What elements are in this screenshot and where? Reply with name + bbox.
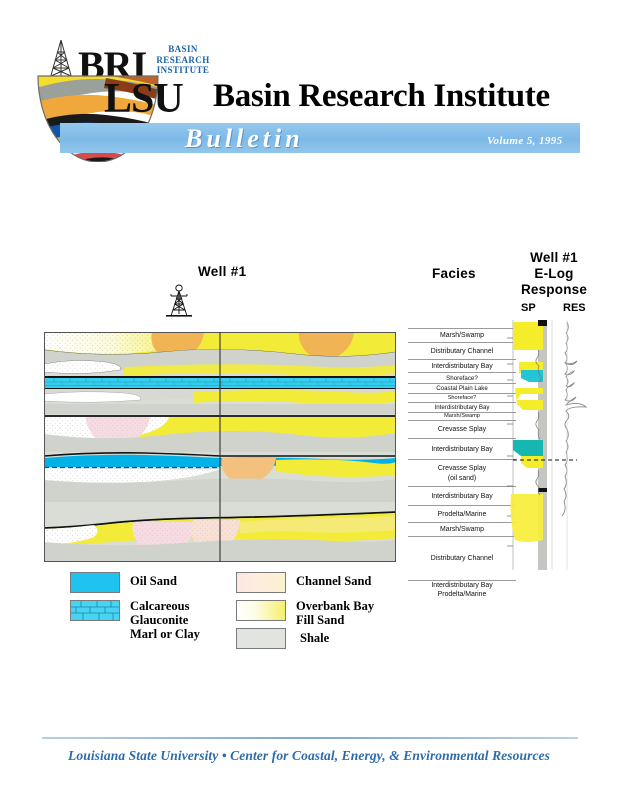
facies-row: Distributary Channel <box>408 342 516 360</box>
elog-response-tracks <box>505 320 605 570</box>
facies-label-line: Interdistributary Bay <box>431 581 492 591</box>
legend-label-shale: Shale <box>300 631 329 645</box>
well-label-crosssection: Well #1 <box>198 264 246 279</box>
res-track-label: RES <box>563 302 586 314</box>
institute-line-2: RESEARCH <box>148 55 218 66</box>
facies-row: Prodelta/Marine <box>408 505 516 523</box>
legend-swatch-oil-sand <box>70 572 120 593</box>
marl-hatch-icon <box>71 601 119 620</box>
legend-label-overbank-l2: Fill Sand <box>296 613 374 627</box>
figure-legend: Oil Sand Calcareous Glauconite Marl or C… <box>70 570 430 660</box>
facies-row: Marsh/Swamp <box>408 522 516 537</box>
facies-row: Interdistributary Bay <box>408 486 516 506</box>
facies-row: Crevasse Splay(oil sand) <box>408 459 516 487</box>
footer-divider <box>42 737 578 739</box>
facies-label-line: Interdistributary Bay <box>431 492 492 502</box>
facies-row-label: Crevasse Splay(oil sand) <box>438 464 486 483</box>
facies-row-label: Distributary Channel <box>431 347 493 357</box>
facies-row: Interdistributary Bay <box>408 438 516 460</box>
publication-title: Basin Research Institute <box>213 78 550 115</box>
facies-row: Crevasse Splay <box>408 420 516 439</box>
stratigraphic-figure: Well #1 Facies Well #1 E-Log Response SP… <box>0 240 618 580</box>
facies-row-label: Shoreface? <box>446 374 478 384</box>
facies-label-line: Distributary Channel <box>431 554 493 564</box>
legend-label-channel-sand: Channel Sand <box>296 574 371 588</box>
institute-line-1: BASIN <box>148 44 218 55</box>
legend-label-marl-l2: Glauconite <box>130 613 200 627</box>
legend-swatch-overbank <box>236 600 286 621</box>
legend-swatch-marl <box>70 600 120 621</box>
facies-label-line: Crevasse Splay <box>438 464 486 474</box>
bulletin-cover-page: BRI BASIN RESEARCH INSTITUTE <box>0 0 618 800</box>
legend-label-marl: Calcareous Glauconite Marl or Clay <box>130 599 200 641</box>
facies-label-line: Interdistributary Bay <box>431 362 492 372</box>
facies-row-label: Marsh/Swamp <box>440 331 484 341</box>
facies-row: Interdistributary Bay <box>408 359 516 373</box>
facies-label-line: Interdistributary Bay <box>431 445 492 455</box>
bulletin-word: Bulletin <box>185 124 304 154</box>
volume-label: Volume 5, 1995 <box>487 135 563 147</box>
facies-row-label: Marsh/Swamp <box>440 525 484 535</box>
facies-label-line: Shoreface? <box>446 374 478 384</box>
legend-label-marl-l3: Marl or Clay <box>130 627 200 641</box>
facies-row-label: Interdistributary BayProdelta/Marine <box>431 581 492 600</box>
elog-header-line-2: E-Log <box>505 266 603 282</box>
facies-row-label: Interdistributary Bay <box>431 492 492 502</box>
facies-label-column: Marsh/SwampDistributary ChannelInterdist… <box>408 240 516 580</box>
facies-row-label: Interdistributary Bay <box>431 362 492 372</box>
oil-derrick-icon <box>165 284 193 326</box>
facies-label-line: Crevasse Splay <box>438 425 486 435</box>
facies-label-line: Distributary Channel <box>431 347 493 357</box>
facies-label-line: Prodelta/Marine <box>431 590 492 600</box>
facies-row-label: Distributary Channel <box>431 554 493 564</box>
facies-row-label: Interdistributary Bay <box>431 445 492 455</box>
elog-column-header: Well #1 E-Log Response <box>505 250 603 298</box>
legend-label-overbank: Overbank Bay Fill Sand <box>296 599 374 627</box>
facies-label-line: Prodelta/Marine <box>438 510 487 520</box>
facies-row-label: Crevasse Splay <box>438 425 486 435</box>
legend-swatch-shale <box>236 628 286 649</box>
legend-label-oil-sand: Oil Sand <box>130 574 177 588</box>
facies-label-line: Marsh/Swamp <box>440 525 484 535</box>
institute-name: BASIN RESEARCH INSTITUTE <box>148 44 218 76</box>
legend-swatch-channel-sand <box>236 572 286 593</box>
masthead: BRI BASIN RESEARCH INSTITUTE <box>0 0 618 185</box>
facies-label-line: (oil sand) <box>438 474 486 484</box>
facies-label-line: Marsh/Swamp <box>440 331 484 341</box>
sp-track-label: SP <box>521 302 536 314</box>
legend-label-marl-l1: Calcareous <box>130 599 200 613</box>
elog-header-line-3: Response <box>505 282 603 298</box>
legend-label-overbank-l1: Overbank Bay <box>296 599 374 613</box>
facies-row: Marsh/Swamp <box>408 328 516 343</box>
footer-text: Louisiana State University • Center for … <box>0 748 618 764</box>
stratigraphic-cross-section <box>44 332 396 562</box>
elog-header-line-1: Well #1 <box>505 250 603 266</box>
facies-row-label: Prodelta/Marine <box>438 510 487 520</box>
lsu-acronym: LSU <box>104 75 183 123</box>
